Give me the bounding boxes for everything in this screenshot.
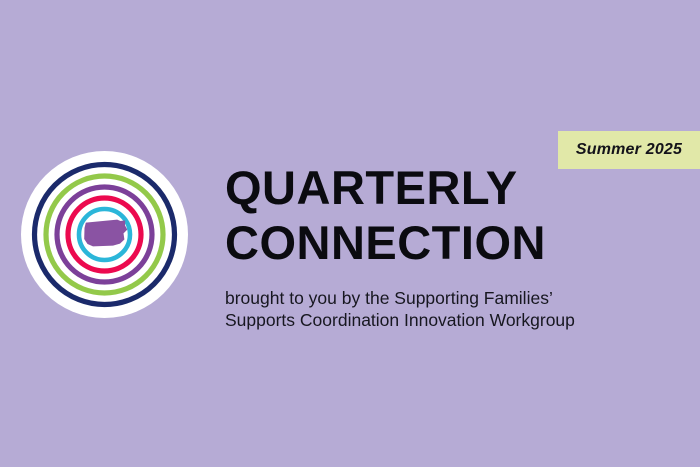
concentric-rings-icon [21,151,188,318]
subtitle-line-2: Supports Coordination Innovation Workgro… [225,309,645,331]
page-title-line-1: QUARTERLY [225,160,685,215]
pennsylvania-shape-icon [84,220,127,247]
subtitle: brought to you by the Supporting Familie… [225,287,645,331]
supporting-families-logo [21,151,188,318]
page-title-line-2: CONNECTION [225,215,685,270]
masthead: QUARTERLY CONNECTION brought to you by t… [225,160,685,331]
season-badge-label: Summer 2025 [576,141,682,159]
subtitle-line-1: brought to you by the Supporting Familie… [225,287,645,309]
newsletter-banner: Summer 2025 QUARTERLY CONNECTION brought… [0,0,700,467]
